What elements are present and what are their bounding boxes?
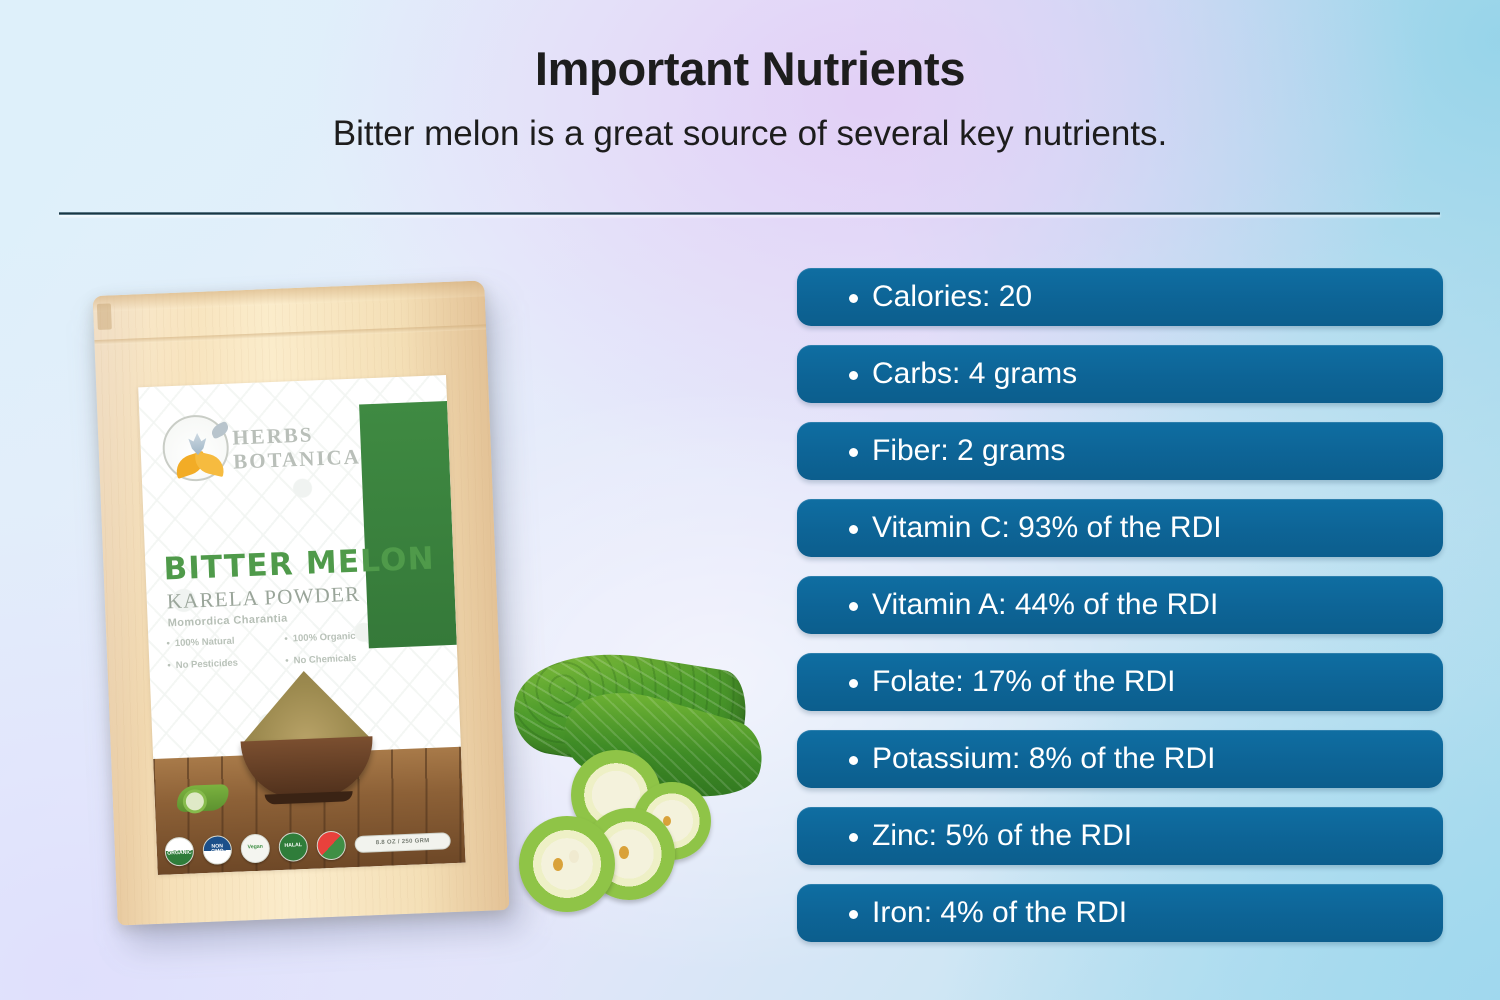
nutrient-item-calories[interactable]: Calories: 20 [797, 268, 1443, 326]
usda-badge-bottom: ORGANIC [167, 851, 192, 857]
nutrient-item-vitamin-c[interactable]: Vitamin C: 93% of the RDI [797, 499, 1443, 557]
bullet-icon [849, 910, 858, 919]
vegan-badge: Vegan [240, 833, 270, 863]
bullet-icon [849, 448, 858, 457]
nutrient-item-potassium[interactable]: Potassium: 8% of the RDI [797, 730, 1443, 788]
page-title: Important Nutrients [0, 44, 1500, 93]
nutrient-label: Vitamin C: 93% of the RDI [872, 511, 1222, 545]
nutrient-item-carbs[interactable]: Carbs: 4 grams [797, 345, 1443, 403]
tear-notch-icon [97, 303, 112, 330]
bitter-melon-slice [519, 816, 615, 912]
bullet-icon [849, 371, 858, 380]
nutrient-item-iron[interactable]: Iron: 4% of the RDI [797, 884, 1443, 942]
bullet-icon [849, 756, 858, 765]
halal-badge-label: HALAL [284, 843, 302, 849]
logo-sprout-icon [188, 433, 207, 456]
brand-name: HERBS BOTANICA [232, 421, 361, 475]
bullet-icon [849, 525, 858, 534]
bullet-icon [849, 833, 858, 842]
brand-logo: HERBS BOTANICA [161, 406, 364, 488]
product-label: HERBS BOTANICA BITTER MELON KARELA POWDE… [138, 375, 465, 875]
nutrient-label: Folate: 17% of the RDI [872, 665, 1176, 699]
logo-bird-icon [209, 421, 230, 440]
nutrient-label: Iron: 4% of the RDI [872, 896, 1127, 930]
page-subtitle: Bitter melon is a great source of severa… [0, 115, 1500, 154]
non-gmo-badge: NONGMO [202, 834, 232, 864]
nutrient-item-zinc[interactable]: Zinc: 5% of the RDI [797, 807, 1443, 865]
nutrient-label: Vitamin A: 44% of the RDI [872, 588, 1218, 622]
nutrient-item-folate[interactable]: Folate: 17% of the RDI [797, 653, 1443, 711]
net-weight-label: 8.8 OZ / 250 GRM [354, 832, 451, 853]
kraft-pouch: HERBS BOTANICA BITTER MELON KARELA POWDE… [93, 280, 510, 925]
nutrient-label: Carbs: 4 grams [872, 357, 1077, 391]
nutrient-label: Fiber: 2 grams [872, 434, 1065, 468]
header-divider [59, 212, 1440, 215]
bullet-icon [849, 294, 858, 303]
gmo-badge-bottom: GMO [211, 849, 224, 855]
bitter-melon-produce-image [505, 640, 755, 940]
logo-emblem-icon [161, 414, 230, 483]
label-green-panel [359, 401, 457, 648]
usda-organic-badge: USDAORGANIC [164, 836, 194, 866]
bullet-icon [849, 602, 858, 611]
logo-leaf-right-icon [192, 451, 228, 477]
quality-badge [316, 830, 346, 860]
nutrient-label: Calories: 20 [872, 280, 1032, 314]
nutrient-item-vitamin-a[interactable]: Vitamin A: 44% of the RDI [797, 576, 1443, 634]
vegan-badge-label: Vegan [248, 845, 263, 851]
halal-badge: HALAL [278, 831, 308, 861]
nutrient-list: Calories: 20 Carbs: 4 grams Fiber: 2 gra… [797, 268, 1443, 961]
brand-name-line2: BOTANICA [233, 445, 361, 474]
nutrient-label: Potassium: 8% of the RDI [872, 742, 1215, 776]
nutrient-label: Zinc: 5% of the RDI [872, 819, 1132, 853]
product-package: HERBS BOTANICA BITTER MELON KARELA POWDE… [96, 270, 516, 950]
header: Important Nutrients Bitter melon is a gr… [0, 0, 1500, 154]
nutrient-item-fiber[interactable]: Fiber: 2 grams [797, 422, 1443, 480]
brand-name-line1: HERBS [232, 422, 314, 449]
bullet-icon [849, 679, 858, 688]
